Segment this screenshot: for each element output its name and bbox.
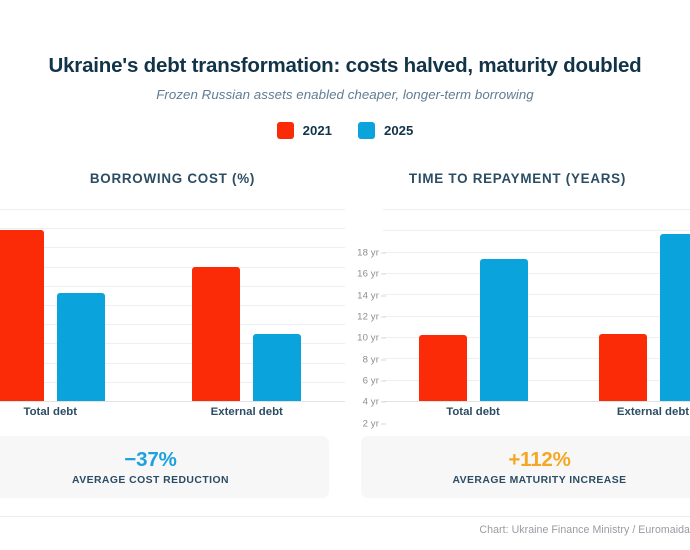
stat-cards: −37%AVERAGE COST REDUCTION+112%AVERAGE M… (0, 436, 690, 498)
stat-card-cost-reduction: −37%AVERAGE COST REDUCTION (0, 436, 329, 498)
x-tick-label: Total debt (446, 406, 500, 418)
page-subtitle: Frozen Russian assets enabled cheaper, l… (0, 87, 690, 102)
legend-swatch-2021 (277, 122, 294, 139)
chart-panel-time-to-repayment: TIME TO REPAYMENT (YEARS) 0 yr2 yr4 yr6 … (345, 165, 690, 430)
y-tick-mark (381, 402, 386, 403)
source-credit: Chart: Ukraine Finance Ministry / Euroma… (0, 524, 690, 536)
y-tick-label: 12 yr (357, 312, 379, 323)
legend-item-2021: 2021 (277, 122, 332, 139)
bar-2025-total-debt (480, 259, 528, 401)
bar-2021-external-debt (192, 267, 240, 401)
y-axis-time-to-repayment: 0 yr2 yr4 yr6 yr8 yr10 yr12 yr14 yr16 yr… (345, 209, 379, 401)
y-tick-mark (381, 274, 386, 275)
chart-legend: 20212025 (0, 122, 690, 139)
y-tick-label: 8 yr (363, 354, 379, 365)
chart-panel-borrowing-cost: BORROWING COST (%) Total debtExternal de… (0, 165, 345, 430)
stat-card-maturity-increase: +112%AVERAGE MATURITY INCREASE (361, 436, 690, 498)
footer-divider (0, 516, 690, 517)
y-tick-mark (381, 338, 386, 339)
infographic-page: Ukraine's debt transformation: costs hal… (0, 0, 690, 550)
x-axis-time-to-repayment: Total debtExternal debt (345, 406, 690, 426)
plot-area-time-to-repayment (383, 209, 690, 401)
y-tick-label: 18 yr (357, 248, 379, 259)
legend-label-2021: 2021 (303, 123, 332, 138)
bar-2025-external-debt (253, 334, 301, 401)
bar-2025-total-debt (57, 293, 105, 401)
y-tick-label: 10 yr (357, 333, 379, 344)
x-tick-label: External debt (211, 406, 283, 418)
legend-item-2025: 2025 (358, 122, 413, 139)
x-tick-label: Total debt (23, 406, 77, 418)
y-axis-borrowing-cost (0, 209, 34, 401)
bar-2025-external-debt (660, 234, 690, 401)
bars-borrowing-cost (0, 209, 345, 401)
stat-card-label: AVERAGE COST REDUCTION (72, 475, 229, 486)
chart-title-time-to-repayment: TIME TO REPAYMENT (YEARS) (345, 165, 690, 186)
gridline (383, 401, 690, 402)
page-title: Ukraine's debt transformation: costs hal… (0, 54, 690, 78)
legend-swatch-2025 (358, 122, 375, 139)
y-tick-mark (381, 359, 386, 360)
x-tick-label: External debt (617, 406, 689, 418)
stat-card-value: −37% (124, 448, 176, 472)
y-tick-label: 14 yr (357, 290, 379, 301)
bar-2021-total-debt (419, 335, 467, 401)
y-tick-mark (381, 381, 386, 382)
gridline (0, 401, 345, 402)
bar-2021-external-debt (599, 334, 647, 401)
legend-label-2025: 2025 (384, 123, 413, 138)
stat-card-value: +112% (508, 448, 570, 472)
x-axis-borrowing-cost: Total debtExternal debt (0, 406, 345, 426)
plot-area-borrowing-cost (0, 209, 345, 401)
y-tick-mark (381, 317, 386, 318)
charts-row: BORROWING COST (%) Total debtExternal de… (0, 165, 690, 430)
stat-card-label: AVERAGE MATURITY INCREASE (452, 475, 626, 486)
header: Ukraine's debt transformation: costs hal… (0, 0, 690, 102)
y-tick-label: 6 yr (363, 376, 379, 387)
y-tick-label: 16 yr (357, 269, 379, 280)
chart-title-borrowing-cost: BORROWING COST (%) (0, 165, 345, 186)
y-tick-mark (381, 253, 386, 254)
bars-time-to-repayment (383, 209, 690, 401)
y-tick-mark (381, 295, 386, 296)
